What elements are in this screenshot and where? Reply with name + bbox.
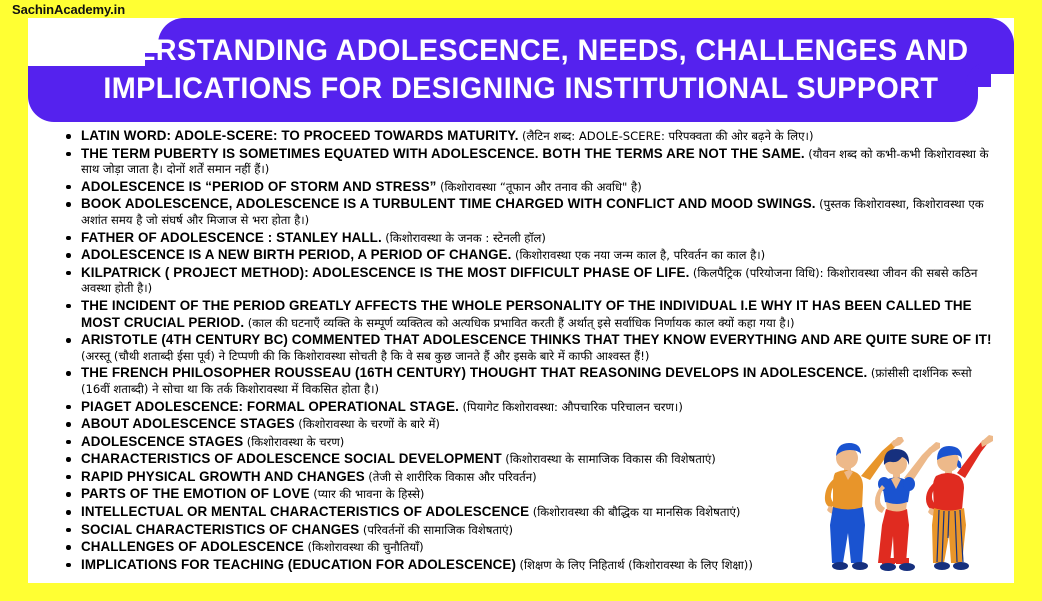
list-item-english: THE TERM PUBERTY IS SOMETIMES EQUATED WI… [81,146,805,161]
list-item-hindi: (शिक्षण के लिए निहितार्थ (किशोरावस्था के… [520,558,753,572]
list-item-english: PARTS OF THE EMOTION OF LOVE [81,486,310,501]
list-item-hindi: (किशोरावस्था “तूफान और तनाव की अवधि" है) [440,180,642,194]
list-item-english: SOCIAL CHARACTERISTICS OF CHANGES [81,522,359,537]
list-item-english: ARISTOTLE (4TH CENTURY BC) COMMENTED THA… [81,332,992,347]
list-item-english: FATHER OF ADOLESCENCE : STANLEY HALL. [81,230,382,245]
list-item-english: LATIN WORD: ADOLE-SCERE: TO PROCEED TOWA… [81,128,519,143]
list-item-english: INTELLECTUAL OR MENTAL CHARACTERISTICS O… [81,504,529,519]
list-item-english: THE FRENCH PHILOSOPHER ROUSSEAU (16TH CE… [81,365,867,380]
list-item-hindi: (प्यार की भावना के हिस्से) [313,487,424,501]
list-item-english: BOOK ADOLESCENCE, ADOLESCENCE IS A TURBU… [81,196,816,211]
list-item-english: CHARACTERISTICS OF ADOLESCENCE SOCIAL DE… [81,451,502,466]
page-background: SachinAcademy.in UNDERSTANDING ADOLESCEN… [0,0,1042,601]
site-brand-label: SachinAcademy.in [12,1,125,18]
list-item-english: PIAGET ADOLESCENCE: FORMAL OPERATIONAL S… [81,399,459,414]
list-item: KILPATRICK ( PROJECT METHOD): ADOLESCENC… [58,265,998,297]
list-item-english: IMPLICATIONS FOR TEACHING (EDUCATION FOR… [81,557,516,572]
list-item-hindi: (किशोरावस्था के चरण) [247,435,344,449]
list-item-hindi: (किशोरावस्था के चरणों के बारे में) [298,417,440,431]
list-item-hindi: (लैटिन शब्द: ADOLE-SCERE: परिपक्वता की ओ… [522,129,813,143]
list-item-english: ADOLESCENCE IS A NEW BIRTH PERIOD, A PER… [81,247,511,262]
list-item-hindi: (तेजी से शारीरिक विकास और परिवर्तन) [368,470,536,484]
list-item-hindi: (काल की घटनाएँ व्यक्ति के सम्पूर्ण व्यक्… [248,316,795,330]
list-item-hindi: (किशोरावस्था की चुनौतियाँ) [307,540,423,554]
title-banner [28,18,1014,122]
list-item: BOOK ADOLESCENCE, ADOLESCENCE IS A TURBU… [58,196,998,228]
list-item-hindi: (किशोरावस्था के सामाजिक विकास की विशेषता… [505,452,716,466]
list-item-hindi: (अरस्तू (चौथी शताब्दी ईसा पूर्व) ने टिप्… [81,349,649,363]
content-card: UNDERSTANDING ADOLESCENCE, NEEDS, CHALLE… [28,18,1014,583]
list-item: ADOLESCENCE IS A NEW BIRTH PERIOD, A PER… [58,247,998,264]
list-item-hindi: (पियागेट किशोरावस्था: औपचारिक परिचालन चर… [462,400,682,414]
list-item-english: CHALLENGES OF ADOLESCENCE [81,539,304,554]
list-item: PIAGET ADOLESCENCE: FORMAL OPERATIONAL S… [58,399,998,416]
list-item-english: ADOLESCENCE IS “PERIOD OF STORM AND STRE… [81,179,436,194]
list-item-hindi: (परिवर्तनों की सामाजिक विशेषताएं) [363,523,513,537]
list-item-english: ADOLESCENCE STAGES [81,434,243,449]
list-item: THE INCIDENT OF THE PERIOD GREATLY AFFEC… [58,298,998,331]
list-item-english: KILPATRICK ( PROJECT METHOD): ADOLESCENC… [81,265,689,280]
list-item: ARISTOTLE (4TH CENTURY BC) COMMENTED THA… [58,332,998,364]
list-item: LATIN WORD: ADOLE-SCERE: TO PROCEED TOWA… [58,128,998,145]
list-item: THE TERM PUBERTY IS SOMETIMES EQUATED WI… [58,146,998,178]
list-item-hindi: (किशोरावस्था एक नया जन्म काल है, परिवर्त… [515,248,765,262]
three-dancing-teens-illustration [818,418,1008,583]
list-item-english: RAPID PHYSICAL GROWTH AND CHANGES [81,469,365,484]
list-item: THE FRENCH PHILOSOPHER ROUSSEAU (16TH CE… [58,365,998,397]
dancer-figure-right [926,435,993,570]
list-item: ADOLESCENCE IS “PERIOD OF STORM AND STRE… [58,179,998,196]
list-item-hindi: (किशोरावस्था की बौद्धिक या मानसिक विशेषत… [533,505,741,519]
list-item: FATHER OF ADOLESCENCE : STANLEY HALL. (क… [58,230,998,247]
banner-row-bottom [28,66,978,122]
list-item-english: ABOUT ADOLESCENCE STAGES [81,416,295,431]
list-item-hindi: (किशोरावस्था के जनक : स्टेनली हॉल) [385,231,546,245]
